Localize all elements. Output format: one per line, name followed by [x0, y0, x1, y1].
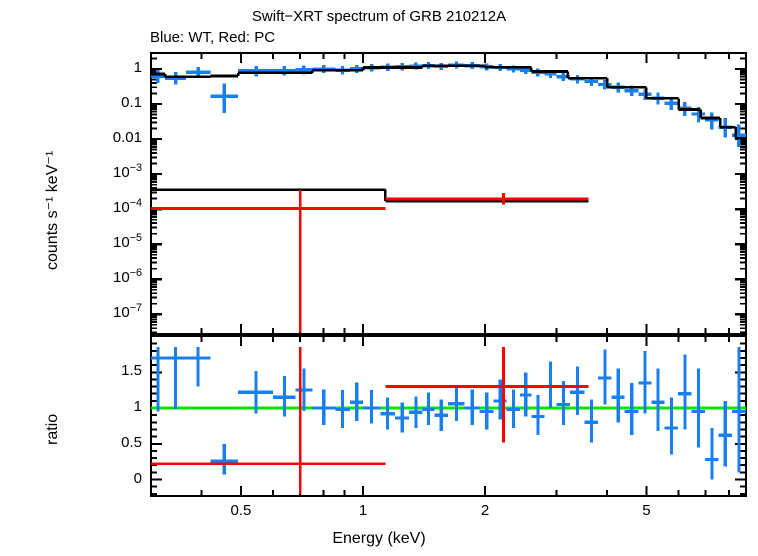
xspec-figure: Swift−XRT spectrum of GRB 210212A Blue: … — [0, 0, 758, 556]
plot-canvas — [0, 0, 758, 556]
